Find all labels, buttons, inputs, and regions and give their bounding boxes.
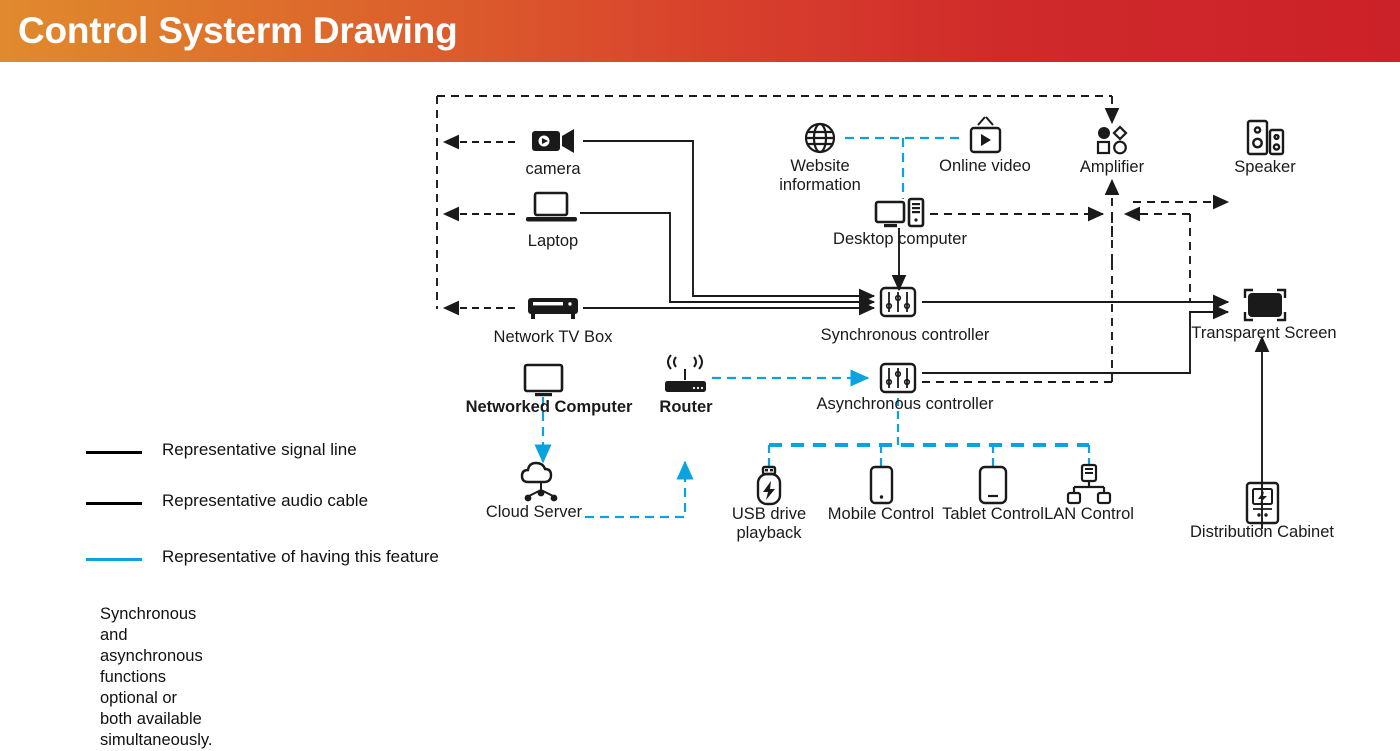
control-system-drawing-page: Control Systerm Drawing bbox=[0, 0, 1400, 656]
controller-sliders-icon-async bbox=[881, 364, 915, 392]
node-label-lan-control: LAN Control bbox=[1029, 505, 1149, 524]
legend-note: Synchronous and asynchronous functions o… bbox=[100, 604, 212, 751]
node-label-asynchronous-controller: Asynchronous controller bbox=[816, 395, 993, 414]
lan-network-icon bbox=[1068, 465, 1110, 503]
node-label-networked-computer: Networked Computer bbox=[466, 398, 633, 417]
node-label-distribution-cabinet: Distribution Cabinet bbox=[1190, 523, 1334, 542]
tv-play-icon bbox=[971, 117, 1000, 152]
video-camera-icon bbox=[532, 129, 574, 153]
legend-swatch-signal-line bbox=[86, 451, 142, 454]
legend-label-feature: Representative of having this feature bbox=[162, 547, 439, 567]
monitor-icon bbox=[525, 365, 562, 391]
legend-label-signal-line: Representative signal line bbox=[162, 440, 357, 460]
laptop-icon-base bbox=[526, 217, 577, 222]
mobile-phone-icon-dot bbox=[880, 495, 883, 498]
transparent-screen-icon bbox=[1245, 290, 1285, 320]
globe-icon bbox=[806, 124, 834, 152]
node-label-network-tv-box: Network TV Box bbox=[494, 328, 613, 347]
page-title: Control Systerm Drawing bbox=[18, 10, 457, 52]
node-label-speaker: Speaker bbox=[1234, 158, 1295, 177]
node-label-amplifier: Amplifier bbox=[1080, 158, 1144, 177]
page-header-banner: Control Systerm Drawing bbox=[0, 0, 1400, 62]
legend-label-audio-cable: Representative audio cable bbox=[162, 491, 368, 511]
controller-sliders-icon bbox=[881, 288, 915, 316]
node-label-website-information: Website information bbox=[760, 157, 880, 195]
amplifier-icon bbox=[1098, 127, 1126, 153]
dashed-right-audio-return bbox=[1125, 214, 1228, 302]
legend-swatch-feature bbox=[86, 558, 142, 561]
monitor-icon-stand bbox=[535, 393, 552, 396]
node-label-cloud-server: Cloud Server bbox=[486, 503, 582, 522]
legend-swatch-audio-cable bbox=[86, 502, 142, 505]
laptop-icon bbox=[535, 193, 567, 215]
tv-play-icon-triangle bbox=[981, 134, 991, 146]
node-label-desktop-computer: Desktop computer bbox=[833, 230, 967, 249]
node-label-synchronous-controller: Synchronous controller bbox=[821, 326, 990, 345]
dashed-outer-bus bbox=[437, 96, 1112, 309]
cloud-network-icon bbox=[522, 463, 557, 501]
node-label-online-video: Online video bbox=[925, 157, 1045, 176]
node-label-transparent-screen: Transparent Screen bbox=[1189, 324, 1339, 343]
dashed-left-feeds bbox=[444, 142, 515, 308]
node-label-mobile-control: Mobile Control bbox=[821, 505, 941, 524]
tablet-icon bbox=[980, 467, 1006, 503]
node-label-camera: camera bbox=[525, 160, 580, 179]
node-label-router: Router bbox=[659, 398, 712, 417]
set-top-box-icon bbox=[528, 298, 578, 319]
router-icon bbox=[665, 355, 706, 392]
speaker-icon bbox=[1248, 121, 1283, 154]
node-label-laptop: Laptop bbox=[528, 232, 578, 251]
node-label-usb-drive-playback: USB drive playback bbox=[709, 505, 829, 543]
desktop-computer-icon-parts bbox=[884, 203, 920, 227]
diagram-canvas: camera Laptop Network TV Box Website inf… bbox=[0, 62, 1400, 656]
